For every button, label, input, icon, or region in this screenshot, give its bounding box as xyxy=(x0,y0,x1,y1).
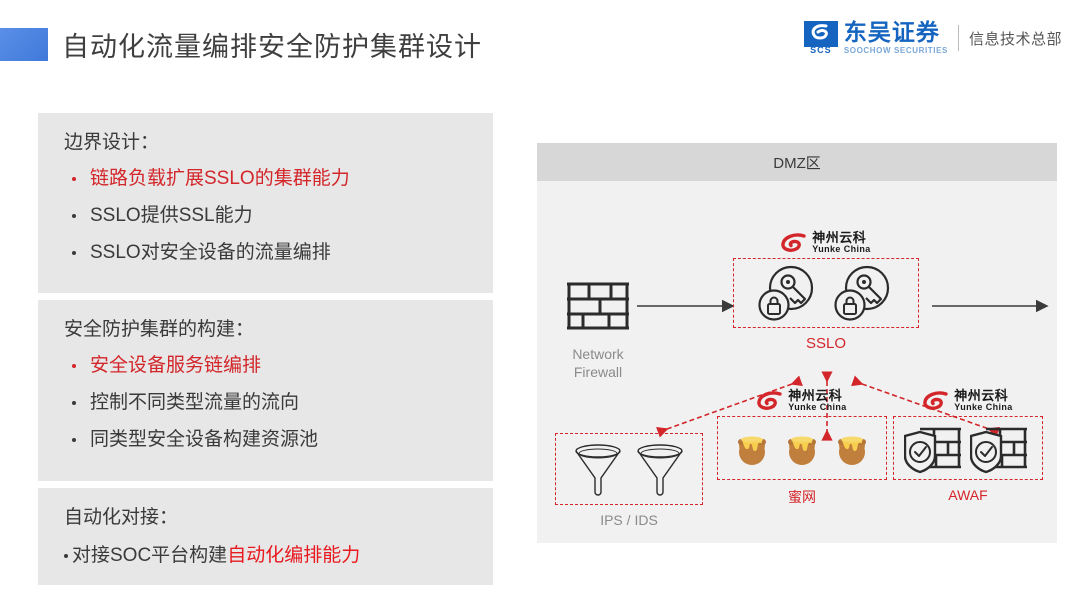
key-lock-icon xyxy=(757,262,819,324)
node-label-line1: Network xyxy=(559,346,637,364)
awaf-device-group xyxy=(893,416,1043,480)
bullet-dot-icon xyxy=(72,251,76,255)
vendor-logo-yunke: 神州云科 Yunke China xyxy=(717,389,887,413)
vendor-name-cn: 神州云科 xyxy=(788,389,846,403)
vendor-name-en: Yunke China xyxy=(788,403,846,413)
node-label: Network Firewall xyxy=(559,346,637,381)
bullet-dot-icon xyxy=(72,214,76,218)
node-label: AWAF xyxy=(893,487,1043,503)
shield-wall-icon xyxy=(970,420,1032,476)
node-sslo[interactable]: 神州云科 Yunke China xyxy=(733,231,919,352)
list-item-label: 同类型安全设备构建资源池 xyxy=(90,428,318,452)
list-item: 对接SOC平台构建自动化编排能力 xyxy=(64,544,467,568)
bullet-dot-icon xyxy=(72,438,76,442)
vendor-name-en: Yunke China xyxy=(812,245,870,255)
dmz-zone-header: DMZ区 xyxy=(537,143,1057,181)
list-item: 链路负载扩展SSLO的集群能力 xyxy=(64,167,467,191)
logo-square-icon xyxy=(804,21,838,47)
list-item-label: SSLO对安全设备的流量编排 xyxy=(90,241,331,265)
list-item-label: 控制不同类型流量的流向 xyxy=(90,391,299,415)
list-item: 安全设备服务链编排 xyxy=(64,354,467,378)
node-honeynet[interactable]: 神州云科 Yunke China xyxy=(717,389,887,507)
yunke-swirl-icon xyxy=(923,391,949,411)
node-label-line2: Firewall xyxy=(559,364,637,382)
node-label: 蜜网 xyxy=(717,487,887,507)
list-item-text: 对接SOC平台构建 xyxy=(72,545,227,566)
funnel-icon xyxy=(634,440,686,498)
shield-wall-icon xyxy=(904,420,966,476)
bullet-dot-icon xyxy=(72,364,76,368)
list-item-label: 安全设备服务链编排 xyxy=(90,354,261,378)
funnel-icon xyxy=(572,440,624,498)
page-title: 自动化流量编排安全防护集群设计 xyxy=(62,25,482,64)
node-network-firewall[interactable]: Network Firewall xyxy=(559,273,637,381)
architecture-diagram: DMZ区 xyxy=(537,143,1057,543)
sslo-device-group xyxy=(733,258,919,328)
list-item: 同类型安全设备构建资源池 xyxy=(64,428,467,452)
key-lock-icon xyxy=(833,262,895,324)
node-label: SSLO xyxy=(733,335,919,352)
bullet-dot-icon xyxy=(72,401,76,405)
honeynet-device-group xyxy=(717,416,887,480)
list-item-label: SSLO提供SSL能力 xyxy=(90,204,253,228)
logo-scs-text: SCS xyxy=(804,46,838,55)
bullet-dot-icon xyxy=(72,177,76,181)
node-awaf[interactable]: 神州云科 Yunke China xyxy=(893,389,1043,503)
bullet-dot-icon xyxy=(64,554,68,558)
honey-pot-icon xyxy=(833,426,871,470)
soochow-logo-mark: SCS xyxy=(804,21,838,55)
honey-pot-icon xyxy=(783,426,821,470)
node-label: IPS / IDS xyxy=(555,512,703,528)
vendor-name-cn: 神州云科 xyxy=(812,231,870,245)
company-logo: SCS 东吴证券 SOOCHOW SECURITIES 信息技术总部 xyxy=(804,21,1062,55)
list-item: SSLO对安全设备的流量编排 xyxy=(64,241,467,265)
list-item-label: 对接SOC平台构建自动化编排能力 xyxy=(72,544,360,568)
list-item-label: 链路负载扩展SSLO的集群能力 xyxy=(90,167,350,191)
vendor-logo-yunke: 神州云科 Yunke China xyxy=(733,231,919,255)
section-heading: 安全防护集群的构建： xyxy=(64,314,467,341)
yunke-swirl-icon xyxy=(757,391,783,411)
brand-divider xyxy=(958,25,959,51)
section-heading: 边界设计： xyxy=(64,127,467,154)
diagram-body: Network Firewall 神州云科 Yunke China xyxy=(537,181,1057,543)
brand-name-cn: 东吴证券 xyxy=(844,21,948,44)
slide: 自动化流量编排安全防护集群设计 SCS 东吴证券 SOOCHOW SECURIT… xyxy=(0,0,1080,608)
brand-name-en: SOOCHOW SECURITIES xyxy=(844,46,948,55)
list-item: 控制不同类型流量的流向 xyxy=(64,391,467,415)
title-accent-bar xyxy=(0,28,48,61)
list-item: SSLO提供SSL能力 xyxy=(64,204,467,228)
bullet-panel: 边界设计： 链路负载扩展SSLO的集群能力 SSLO提供SSL能力 SSLO对安… xyxy=(38,113,493,592)
vendor-name-cn: 神州云科 xyxy=(954,389,1012,403)
section-automation: 自动化对接： 对接SOC平台构建自动化编排能力 xyxy=(38,488,493,586)
vendor-logo-yunke: 神州云科 Yunke China xyxy=(893,389,1043,413)
section-boundary-design: 边界设计： 链路负载扩展SSLO的集群能力 SSLO提供SSL能力 SSLO对安… xyxy=(38,113,493,293)
vendor-name-en: Yunke China xyxy=(954,403,1012,413)
yunke-swirl-icon xyxy=(781,233,807,253)
node-ips-ids[interactable]: IPS / IDS xyxy=(555,433,703,528)
section-cluster-build: 安全防护集群的构建： 安全设备服务链编排 控制不同类型流量的流向 同类型安全设备… xyxy=(38,300,493,480)
brick-wall-icon xyxy=(559,273,637,339)
ips-ids-device-group xyxy=(555,433,703,505)
brand-department: 信息技术总部 xyxy=(969,28,1062,49)
list-item-highlight: 自动化编排能力 xyxy=(227,545,360,566)
section-heading: 自动化对接： xyxy=(64,502,467,529)
honey-pot-icon xyxy=(733,426,771,470)
